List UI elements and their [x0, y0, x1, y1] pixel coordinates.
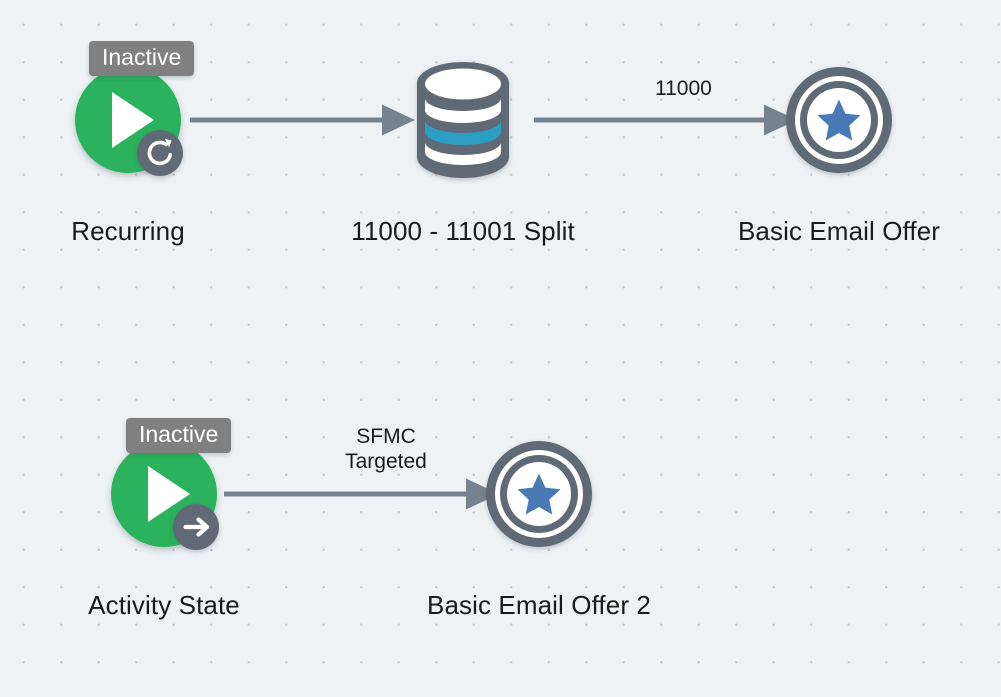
- node-recurring[interactable]: [75, 67, 183, 176]
- offer-star-icon: [786, 67, 892, 173]
- activity-state-circle[interactable]: [111, 441, 217, 547]
- play-icon: [148, 466, 190, 522]
- refresh-icon: [137, 130, 183, 176]
- status-badge-activity-state[interactable]: Inactive: [126, 418, 231, 453]
- play-icon: [112, 92, 154, 148]
- edge-label-split-to-offer: 11000: [655, 77, 712, 102]
- database-icon: [417, 62, 509, 178]
- database-teal-band: [425, 120, 501, 145]
- node-label-split: 11000 - 11001 Split: [333, 216, 593, 247]
- node-basic-email-offer[interactable]: [786, 67, 892, 173]
- edge-label-line-1: SFMC: [324, 425, 448, 450]
- node-label-basic-email-offer-2: Basic Email Offer 2: [409, 590, 669, 621]
- star-shape: [518, 474, 561, 515]
- status-badge-recurring[interactable]: Inactive: [89, 41, 194, 76]
- node-split[interactable]: [417, 62, 509, 178]
- node-label-activity-state: Activity State: [34, 590, 294, 621]
- offer-star-icon: [486, 441, 592, 547]
- flow-canvas[interactable]: Inactive Inactive 11000 SFMC Targeted Re…: [0, 0, 1001, 697]
- arrow-right-icon: [173, 504, 219, 550]
- node-activity-state[interactable]: [111, 441, 219, 550]
- star-shape: [818, 100, 861, 141]
- node-label-basic-email-offer: Basic Email Offer: [709, 216, 969, 247]
- edge-label-line-2: Targeted: [324, 450, 448, 475]
- edge-label-activity-to-offer2: SFMC Targeted: [324, 425, 448, 475]
- node-label-recurring: Recurring: [0, 216, 256, 247]
- node-basic-email-offer-2[interactable]: [486, 441, 592, 547]
- recurring-circle[interactable]: [75, 67, 181, 173]
